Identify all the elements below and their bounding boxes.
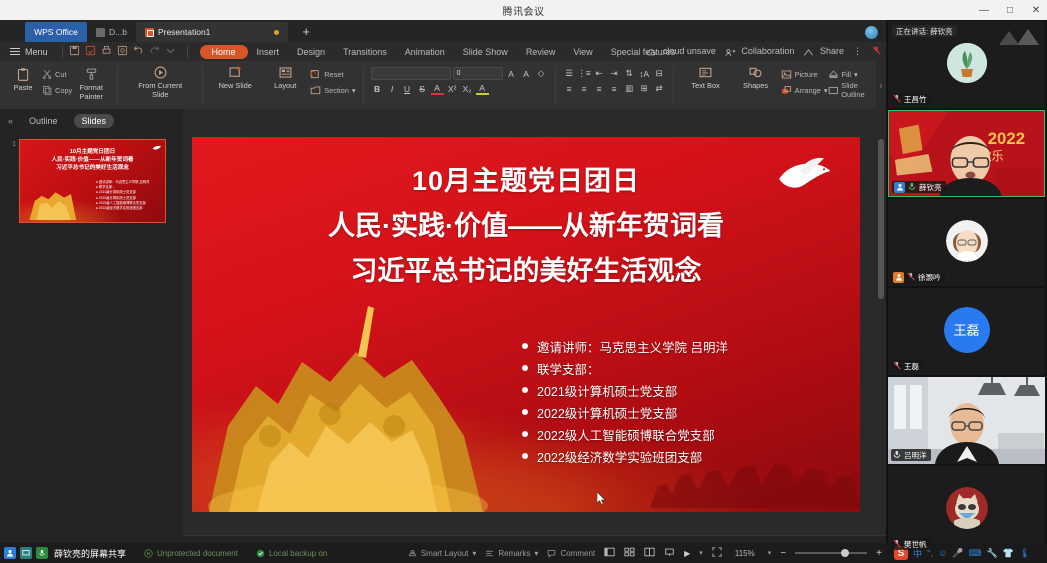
ime-keyboard-icon[interactable]: ⌨ <box>969 548 982 559</box>
mic-active-icon <box>908 178 916 196</box>
font-controls: 0 A A ◇ B I U S A X² X₂ A <box>371 64 548 95</box>
meeting-title: 腾讯会议 <box>503 3 545 18</box>
mic-active-icon <box>893 446 901 464</box>
ribbon-tab-slide-show[interactable]: Slide Show <box>454 45 517 59</box>
font-size-input[interactable]: 0 <box>453 67 503 80</box>
shapes-button[interactable]: Shapes <box>731 64 781 91</box>
shapes-icon <box>748 64 763 81</box>
paragraph-controls: ☰ ⋮≡ ⇤ ⇥ ⇅ ↕A ⊟ ≡ ≡ ≡ ≡ ▥ ⊞ <box>563 64 666 95</box>
format-painter-label: Format Painter <box>72 84 110 101</box>
shapes-label: Shapes <box>743 82 768 91</box>
document-protection-status[interactable]: Unprotected document <box>144 549 238 558</box>
slide-navigator-panel: « Outline Slides 1 10月主题党日团日 人民·实践·价值——从… <box>0 109 183 563</box>
ribbon-tab-view[interactable]: View <box>564 45 601 59</box>
collaboration-button[interactable]: Collaboration <box>725 46 795 56</box>
chevron-down-icon[interactable]: ▾ <box>768 549 772 557</box>
ime-toolbox-icon[interactable]: 🔧 <box>987 548 998 559</box>
participant-name: 薛钦亮 <box>919 182 942 193</box>
fill-icon <box>828 69 839 80</box>
zoom-out-button[interactable]: − <box>780 548 786 559</box>
reset-icon <box>310 69 321 80</box>
bullet-text: 2022级经济数学实验班团支部 <box>537 447 702 466</box>
wps-office-badge[interactable]: WPS Office <box>25 22 87 42</box>
local-backup-status[interactable]: Local backup on <box>256 549 327 558</box>
paste-icon <box>16 66 31 83</box>
bullet-dot-icon <box>522 343 528 349</box>
document-tabstrip: WPS Office D...b Presentation1 + <box>0 20 886 42</box>
participant-tile-xuhaoyin[interactable]: 徐灏吟 <box>888 199 1045 286</box>
comment-icon <box>547 549 556 558</box>
chevron-down-icon[interactable]: ▾ <box>534 549 538 558</box>
participant-namebar: 吕明洋 <box>891 449 931 461</box>
participant-tile-lvmingyang[interactable]: 吕明洋 <box>888 377 1045 464</box>
fill-label: Fill <box>842 70 851 79</box>
copy-button[interactable]: Copy <box>42 83 72 97</box>
smart-layout-button[interactable]: Smart Layout▾ <box>408 549 477 558</box>
paragraph-row-2: ≡ ≡ ≡ ≡ ▥ ⊞ ⇄ <box>563 82 666 95</box>
nav-tab-outline[interactable]: Outline <box>21 114 66 128</box>
window-controls: — □ ✕ <box>977 0 1043 20</box>
close-button[interactable]: ✕ <box>1029 5 1043 16</box>
ribbon-tabs: Home Insert Design Transitions Animation… <box>200 45 685 59</box>
thumbnail-title-line3: 习近平总书记的美好生活观念 <box>20 164 165 172</box>
format-painter-icon <box>84 66 99 83</box>
zoom-slider[interactable] <box>795 552 867 554</box>
copy-label: Copy <box>55 86 72 95</box>
line-spacing-icon[interactable]: ↕A <box>638 67 651 80</box>
justify-icon[interactable]: ≡ <box>608 82 621 95</box>
remarks-label: Remarks <box>498 549 530 558</box>
ribbon-tab-home[interactable]: Home <box>200 45 248 59</box>
avatar <box>946 220 988 262</box>
ribbon-tab-transitions[interactable]: Transitions <box>334 45 396 59</box>
remarks-button[interactable]: Remarks▾ <box>485 549 538 558</box>
share-button[interactable]: Share <box>803 46 844 56</box>
undo-icon[interactable] <box>133 45 146 58</box>
slide-thumbnail-list: 1 10月主题党日团日 人民·实践·价值——从新年贺词看 习近平总书记的美好生活… <box>0 133 183 223</box>
layout-icon <box>278 64 293 81</box>
divider <box>673 66 674 104</box>
divider <box>187 46 188 58</box>
picture-label: Picture <box>795 70 818 79</box>
host-badge-icon <box>894 182 905 193</box>
ribbon-group-slideshow: From Current Slide <box>121 64 199 108</box>
normal-view-icon[interactable] <box>604 547 615 559</box>
word-doc-icon <box>96 28 105 37</box>
picture-button[interactable]: Picture <box>781 67 828 81</box>
superscript-button[interactable]: X² <box>446 82 459 95</box>
menu-button[interactable]: Menu <box>25 47 48 57</box>
participant-tile-wangchangzhu[interactable]: 正在讲话: 薛钦亮 王昌竹 <box>888 21 1045 108</box>
slide-bullet-item: 联学支部： <box>522 357 728 379</box>
divider <box>202 66 203 104</box>
screen-share-indicator[interactable]: 薛钦亮的屏幕共享 <box>0 547 126 560</box>
more-options-icon[interactable]: ⋮ <box>853 46 862 57</box>
columns-icon[interactable]: ▥ <box>623 82 636 95</box>
chevron-down-icon[interactable]: ▾ <box>472 549 476 558</box>
underline-button[interactable]: U <box>401 82 414 95</box>
chevron-left-icon[interactable]: « <box>8 116 13 126</box>
redo-icon[interactable] <box>149 45 162 58</box>
participant-namebar: 王昌竹 <box>891 93 931 105</box>
unprotected-icon <box>144 549 153 558</box>
slide-sorter-icon[interactable] <box>624 547 635 559</box>
align-right-icon[interactable]: ≡ <box>593 82 606 95</box>
ribbon-tab-insert[interactable]: Insert <box>248 45 289 59</box>
mic-muted-icon <box>907 268 915 286</box>
speaking-indicator: 正在讲话: 薛钦亮 <box>892 25 957 37</box>
avatar-initials: 王磊 <box>944 307 990 353</box>
bullet-dot-icon <box>522 453 528 459</box>
highlight-button[interactable]: A <box>476 82 489 95</box>
bullet-text: 联学支部： <box>537 359 600 378</box>
ribbon-toolbar: Paste Cut Copy Format Pai <box>0 61 886 109</box>
slide-title-line1: 10月主题党日团日 <box>192 159 860 198</box>
dove-icon <box>776 155 832 195</box>
ribbon-group-paragraph: ☰ ⋮≡ ⇤ ⇥ ⇅ ↕A ⊟ ≡ ≡ ≡ ≡ ▥ ⊞ <box>559 64 670 108</box>
mic-muted-icon <box>893 357 901 375</box>
section-button[interactable]: Section ▾ <box>310 83 355 97</box>
fill-button[interactable]: Fill ▾ <box>828 67 882 81</box>
slide-title-block[interactable]: 10月主题党日团日 人民·实践·价值——从新年贺词看 习近平总书记的美好生活观念 <box>192 159 860 288</box>
cut-label: Cut <box>55 70 67 79</box>
ppt-file-icon <box>145 28 154 37</box>
bullet-list-icon[interactable]: ☰ <box>563 67 576 80</box>
bullet-text: 2021级计算机硕士党支部 <box>537 381 677 400</box>
zoom-slider-knob[interactable] <box>841 549 849 557</box>
participant-tile-fanshifan[interactable]: 樊世帆 <box>888 466 1045 553</box>
play-circle-icon <box>153 64 168 81</box>
bullet-text: 2022级人工智能硕博联合党支部 <box>537 425 715 444</box>
italic-button[interactable]: I <box>386 82 399 95</box>
bullet-dot-icon <box>522 409 528 415</box>
ribbon-scroll-right[interactable]: › <box>876 61 886 109</box>
status-bar-right: Smart Layout▾ Remarks▾ Comment <box>408 547 886 559</box>
slide-bullet-item: 邀请讲师：马克思主义学院 吕明洋 <box>522 335 728 357</box>
convert-icon[interactable]: ⇄ <box>653 82 666 95</box>
cloud-unsave-button[interactable]: cloud unsave <box>646 46 716 56</box>
print-preview-icon[interactable] <box>117 45 130 58</box>
ribbon-right-actions: cloud unsave Collaboration Share ⋮ <box>646 45 882 58</box>
print-icon[interactable] <box>101 45 114 58</box>
zoom-level-value[interactable]: 115% <box>731 549 759 558</box>
document-tab-presentation1[interactable]: Presentation1 <box>136 22 288 42</box>
participant-name: 王昌竹 <box>904 94 927 105</box>
bullet-dot-icon <box>522 387 528 393</box>
cloud-unsave-label: cloud unsave <box>663 46 716 56</box>
chevron-down-icon[interactable]: ▾ <box>854 70 858 79</box>
layout-label: Layout <box>274 82 296 91</box>
divider <box>62 46 63 58</box>
slide-editor[interactable]: 10月主题党日团日 人民·实践·价值——从新年贺词看 习近平总书记的美好生活观念… <box>192 137 860 512</box>
font-row-1: 0 A A ◇ <box>371 67 548 80</box>
slide-bullet-item: 2022级经济数学实验班团支部 <box>522 445 728 467</box>
new-slide-label: New Slide <box>219 82 252 91</box>
slide-title-line2: 人民·实践·价值——从新年贺词看 <box>192 204 860 243</box>
mountain-logo-icon <box>999 27 1039 45</box>
drawing-small-buttons: Picture Arrange ▾ <box>781 64 828 97</box>
from-current-slide-label: From Current Slide <box>129 82 191 99</box>
smart-layout-label: Smart Layout <box>421 549 469 558</box>
arrange-icon <box>781 85 792 96</box>
new-slide-button[interactable]: New Slide <box>210 64 260 91</box>
ime-settings-icon[interactable]: 🌡 <box>1019 548 1030 559</box>
thumbnail-title-line2: 人民·实践·价值——从新年贺词看 <box>20 156 165 164</box>
participant-name: 王磊 <box>904 361 919 372</box>
fit-to-window-icon[interactable] <box>712 547 722 559</box>
ribbon-group-drawing: Text Box Shapes Picture Arrange <box>677 64 886 108</box>
increase-indent-icon[interactable]: ⇥ <box>608 67 621 80</box>
participant-name: 徐灏吟 <box>918 272 941 283</box>
arrange-label: Arrange <box>795 86 821 95</box>
from-current-slide-button[interactable]: From Current Slide <box>125 64 195 99</box>
monument-illustration <box>198 286 498 512</box>
host-badge-icon <box>893 272 904 283</box>
scissors-icon <box>42 69 52 79</box>
participant-name: 吕明洋 <box>904 450 927 461</box>
protection-label: Unprotected document <box>157 549 238 558</box>
avatar <box>947 43 987 83</box>
bullet-dot-icon <box>522 431 528 437</box>
text-box-button[interactable]: Text Box <box>681 64 731 91</box>
ime-voice-icon[interactable]: 🎤 <box>952 548 963 559</box>
mic-muted-icon[interactable] <box>871 45 882 58</box>
decrease-indent-icon[interactable]: ⇤ <box>593 67 606 80</box>
align-left-icon[interactable]: ≡ <box>563 82 576 95</box>
text-box-icon <box>698 64 713 81</box>
ime-emoji-icon[interactable]: ☺ <box>938 548 947 558</box>
hamburger-icon[interactable] <box>10 48 20 56</box>
screen-share-icon <box>20 547 32 559</box>
comment-button[interactable]: Comment <box>547 549 595 558</box>
share-label: Share <box>820 46 844 56</box>
avatar <box>946 487 988 529</box>
backup-label: Local backup on <box>269 549 327 558</box>
participant-namebar: 徐灏吟 <box>891 271 945 283</box>
divider <box>363 66 364 104</box>
save-icon[interactable] <box>69 45 82 58</box>
slide-bullet-list[interactable]: 邀请讲师：马克思主义学院 吕明洋 联学支部： 2021级计算机硕士党支部 202… <box>522 335 728 467</box>
unsaved-dot-icon <box>274 30 279 35</box>
document-tab-label: Presentation1 <box>158 27 210 37</box>
align-center-icon[interactable]: ≡ <box>578 82 591 95</box>
thumbnail-bullets: ● 邀请讲师：马克思主义学院 吕明洋 ● 联学支部： ● 2021级计算机硕士党… <box>96 180 149 211</box>
strikethrough-button[interactable]: S <box>416 82 429 95</box>
customize-icon[interactable] <box>165 45 178 58</box>
ribbon-tab-design[interactable]: Design <box>288 45 334 59</box>
divider <box>555 66 556 104</box>
editor-body: « Outline Slides 1 10月主题党日团日 人民·实践·价值——从… <box>0 109 886 563</box>
reset-label: Reset <box>324 70 343 79</box>
ribbon-group-slides: New Slide Layout Reset Section <box>206 64 359 108</box>
participant-name: 樊世帆 <box>904 539 927 550</box>
ribbon-group-font: 0 A A ◇ B I U S A X² X₂ A <box>367 64 552 108</box>
participant-namebar: 樊世帆 <box>891 538 931 550</box>
thumbnail-title-line1: 10月主题党日团日 <box>20 148 165 156</box>
slide-outline-icon <box>828 85 839 96</box>
bullet-text: 2022级计算机硕士党支部 <box>537 403 677 422</box>
paste-label: Paste <box>14 84 33 93</box>
zoom-in-button[interactable]: + <box>876 548 882 559</box>
font-row-2: B I U S A X² X₂ A <box>371 82 548 95</box>
bullet-dot-icon <box>522 365 528 371</box>
reset-button[interactable]: Reset <box>310 67 355 81</box>
reading-view-icon[interactable] <box>644 547 655 559</box>
wps-office-window: WPS Office D...b Presentation1 + Menu <box>0 20 886 563</box>
new-tab-button[interactable]: + <box>302 22 310 42</box>
participant-panel: 正在讲话: 薛钦亮 王昌竹 <box>886 20 1047 563</box>
ribbon-tab-animation[interactable]: Animation <box>396 45 454 59</box>
play-slideshow-button[interactable]: ▶ <box>684 549 690 558</box>
maximize-button[interactable]: □ <box>1003 5 1017 16</box>
monument-thumbnail-icon <box>26 182 78 220</box>
clear-format-button[interactable]: ◇ <box>535 67 548 80</box>
minimize-button[interactable]: — <box>977 5 991 16</box>
person-icon <box>4 547 16 559</box>
cut-button[interactable]: Cut <box>42 67 72 81</box>
nav-tab-slides[interactable]: Slides <box>74 114 115 128</box>
smart-art-icon[interactable]: ⊞ <box>638 82 651 95</box>
font-color-button[interactable]: A <box>431 82 444 95</box>
new-slide-icon <box>228 64 243 81</box>
numbered-list-icon[interactable]: ⋮≡ <box>578 67 591 80</box>
slide-bullet-item: 2021级计算机硕士党支部 <box>522 379 728 401</box>
slide-canvas-area: 10月主题党日团日 人民·实践·价值——从新年贺词看 习近平总书记的美好生活观念… <box>183 109 886 563</box>
presenter-view-icon[interactable] <box>664 547 675 559</box>
copy-icon <box>42 85 52 95</box>
slide-title-line3: 习近平总书记的美好生活观念 <box>192 249 860 288</box>
paste-button[interactable]: Paste <box>4 64 42 93</box>
arrange-button[interactable]: Arrange ▾ <box>781 83 828 97</box>
slide-number: 1 <box>8 139 16 148</box>
subscript-button[interactable]: X₂ <box>461 82 474 95</box>
screen: 腾讯会议 — □ ✕ WPS Office D...b Presentation… <box>0 0 1047 563</box>
ribbon-tab-review[interactable]: Review <box>517 45 565 59</box>
document-tab-label: D...b <box>109 27 127 37</box>
thumbnail-title: 10月主题党日团日 人民·实践·价值——从新年贺词看 习近平总书记的美好生活观念 <box>20 148 165 172</box>
participant-namebar: 王磊 <box>891 360 923 372</box>
mic-muted-icon <box>893 90 901 108</box>
account-avatar-icon[interactable] <box>865 26 878 39</box>
shrink-font-button[interactable]: A <box>520 67 533 80</box>
slide-small-buttons: Reset Section ▾ <box>310 64 355 97</box>
status-bar: 薛钦亮的屏幕共享 Unprotected document Local back… <box>0 543 886 563</box>
document-tab-db[interactable]: D...b <box>87 22 136 42</box>
slide-bullet-item: 2022级计算机硕士党支部 <box>522 401 728 423</box>
canvas-vertical-scrollbar[interactable] <box>878 139 884 299</box>
avatar: 王磊 <box>944 307 990 353</box>
person-video <box>927 400 1007 464</box>
paragraph-row-1: ☰ ⋮≡ ⇤ ⇥ ⇅ ↕A ⊟ <box>563 67 666 80</box>
screen-share-label: 薛钦亮的屏幕共享 <box>54 547 126 560</box>
comment-label: Comment <box>560 549 595 558</box>
align-vertical-icon[interactable]: ⊟ <box>653 67 666 80</box>
slide-thumbnail-1[interactable]: 10月主题党日团日 人民·实践·价值——从新年贺词看 习近平总书记的美好生活观念… <box>19 139 166 223</box>
slide-navigator-header: « Outline Slides <box>0 109 183 133</box>
microphone-icon <box>36 547 48 559</box>
participant-tile-wanglei[interactable]: 王磊 王磊 <box>888 288 1045 375</box>
collaboration-label: Collaboration <box>741 46 794 56</box>
fill-outline-buttons: Fill ▾ Slide Outline <box>828 64 882 97</box>
mic-muted-icon <box>893 535 901 553</box>
text-box-label: Text Box <box>691 82 719 91</box>
slide-bullet-item: 2022级人工智能硕博联合党支部 <box>522 423 728 445</box>
bold-button[interactable]: B <box>371 82 384 95</box>
clipboard-small-buttons: Cut Copy <box>42 64 72 97</box>
chevron-down-icon[interactable]: ▾ <box>352 86 356 95</box>
section-icon <box>310 85 321 96</box>
backup-icon <box>256 549 265 558</box>
picture-icon <box>781 69 792 80</box>
divider <box>117 66 118 104</box>
layout-button[interactable]: Layout <box>260 64 310 91</box>
ribbon-group-clipboard: Paste Cut Copy Format Pai <box>0 64 114 108</box>
mouse-cursor <box>597 492 606 505</box>
tabstrip-right-group <box>865 26 878 39</box>
ime-skin-icon[interactable]: 👕 <box>1003 548 1014 559</box>
grow-font-button[interactable]: A <box>505 67 518 80</box>
bullet-text: 邀请讲师：马克思主义学院 吕明洋 <box>537 337 728 356</box>
remarks-icon <box>485 549 494 558</box>
participant-tile-xueqinliang[interactable]: 2022 欢乐 <box>888 110 1045 197</box>
dove-thumbnail-icon <box>152 144 162 152</box>
slide-outline-button[interactable]: Slide Outline <box>828 83 882 97</box>
ribbon-tab-row: Menu Home <box>0 42 886 61</box>
participant-namebar: 薛钦亮 <box>892 181 946 193</box>
save-as-cloud-icon[interactable] <box>85 45 98 58</box>
meeting-titlebar: 腾讯会议 — □ ✕ <box>0 0 1047 20</box>
format-painter-button[interactable]: Format Painter <box>72 64 110 101</box>
font-name-input[interactable] <box>371 67 451 80</box>
section-label: Section <box>324 86 349 95</box>
chevron-down-icon[interactable]: ▾ <box>699 549 703 557</box>
smart-layout-icon <box>408 549 417 558</box>
text-direction-icon[interactable]: ⇅ <box>623 67 636 80</box>
